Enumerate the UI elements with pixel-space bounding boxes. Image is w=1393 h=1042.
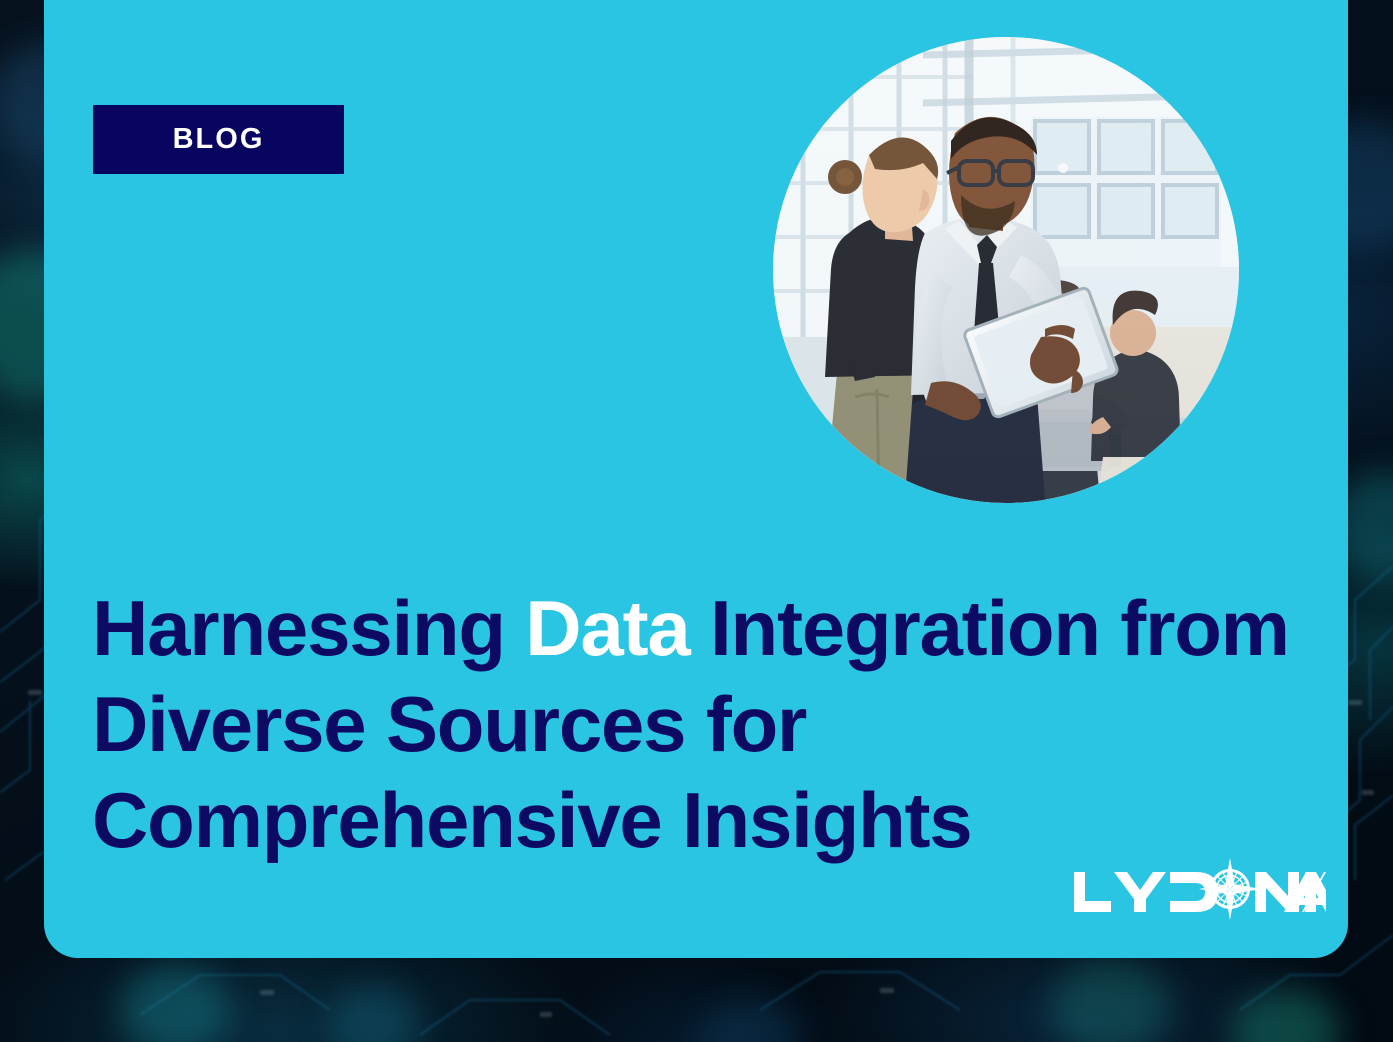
- lydonia-logo[interactable]: LYDONIA: [1064, 858, 1326, 920]
- headline-segment-1: Harnessing: [92, 584, 525, 672]
- blog-badge-label: BLOG: [173, 123, 265, 156]
- hero-photo: [773, 37, 1239, 503]
- blog-badge: BLOG: [93, 105, 344, 174]
- content-card: BLOG: [44, 0, 1348, 958]
- headline-segment-highlight: Data: [525, 584, 689, 672]
- page-title: Harnessing Data Integration from Diverse…: [92, 580, 1322, 868]
- poster-canvas: BLOG: [0, 0, 1393, 1042]
